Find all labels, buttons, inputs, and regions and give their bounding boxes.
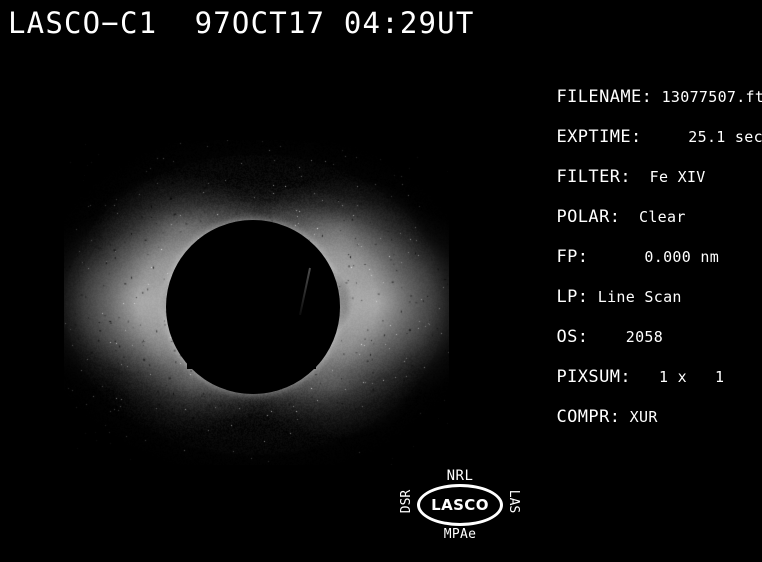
metadata-value: 25.1 sec <box>642 128 762 146</box>
image-vignette <box>64 140 449 465</box>
metadata-value: Line Scan <box>588 288 681 306</box>
logo-label-lasco: LASCO <box>417 484 503 526</box>
metadata-row: FILENAME: 13077507.fts <box>518 58 762 98</box>
logo-label-las: LAS <box>506 490 521 513</box>
metadata-key: FP: <box>557 247 589 267</box>
metadata-value: Clear <box>620 208 685 226</box>
metadata-key: OS: <box>557 327 589 347</box>
metadata-value: XUR <box>620 408 657 426</box>
metadata-key: LP: <box>557 287 589 307</box>
metadata-value: 0.000 nm <box>588 248 719 266</box>
metadata-key: POLAR: <box>557 207 621 227</box>
metadata-value: 1 x 1 <box>631 368 724 386</box>
metadata-value: 2058 <box>588 328 663 346</box>
coronagraph-image <box>64 140 449 465</box>
logo-label-dsr: DSR <box>399 490 414 513</box>
metadata-value: Fe XIV <box>631 168 706 186</box>
metadata-key: FILTER: <box>557 167 631 187</box>
logo-label-mpae: MPAe <box>400 527 520 542</box>
metadata-panel: FILENAME: 13077507.fts EXPTIME: 25.1 sec… <box>518 58 762 418</box>
metadata-key: PIXSUM: <box>557 367 631 387</box>
logo-label-nrl: NRL <box>400 468 520 484</box>
lasco-logo: NRL DSR LAS LASCO MPAe <box>400 468 520 542</box>
metadata-key: COMPR: <box>557 407 621 427</box>
metadata-key: FILENAME: <box>557 87 653 107</box>
page-title: LASCO−C1 97OCT17 04:29UT <box>8 6 475 40</box>
metadata-value: 13077507.fts <box>652 88 762 106</box>
metadata-key: EXPTIME: <box>557 127 642 147</box>
